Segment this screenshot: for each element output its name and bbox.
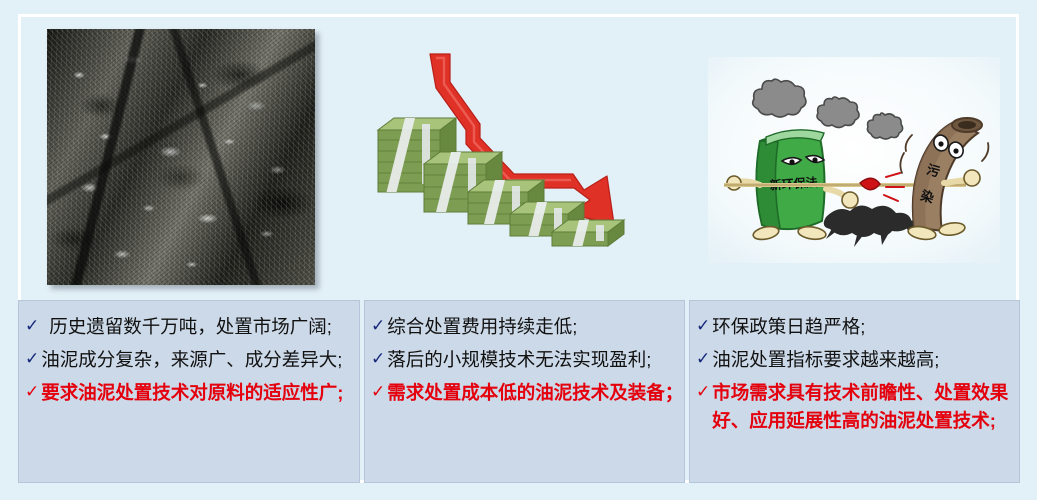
bullet-text: 油泥处置指标要求越来越高;	[712, 346, 1009, 374]
bullet-text: 需求处置成本低的油泥技术及装备；	[387, 379, 683, 407]
bullet-text: 市场需求具有技术前瞻性、处置效果好、应用延展性高的油泥处置技术;	[712, 379, 1009, 435]
bullet-line-emphasis: ✓ 需求处置成本低的油泥技术及装备；	[371, 379, 674, 407]
media-cell-3: 新环保法	[683, 0, 1020, 300]
money-stacks	[378, 118, 624, 246]
text-box-column-2: ✓ 综合处置费用持续走低; ✓ 落后的小规模技术无法实现盈利; ✓ 需求处置成本…	[364, 300, 685, 483]
media-cell-1	[18, 0, 358, 300]
bullet-line: ✓ 油泥处置指标要求越来越高;	[696, 346, 1009, 374]
bullet-line: ✓ 油泥成分复杂，来源广、成分差异大;	[25, 346, 349, 374]
declining-cost-illustration	[368, 38, 668, 270]
bullet-text: 环保政策日趋严格;	[712, 313, 1009, 341]
check-icon: ✓	[25, 379, 39, 405]
bullet-text: 历史遗留数千万吨，处置市场广阔;	[49, 313, 349, 341]
bullet-text: 综合处置费用持续走低;	[387, 313, 674, 341]
check-icon: ✓	[696, 379, 710, 405]
bullet-line-emphasis: ✓ 市场需求具有技术前瞻性、处置效果好、应用延展性高的油泥处置技术;	[696, 379, 1009, 435]
check-icon: ✓	[25, 313, 39, 339]
pollution-cartoon-art: 新环保法	[708, 57, 1000, 263]
oil-sludge-photo	[47, 29, 315, 285]
bullet-line: ✓ 落后的小规模技术无法实现盈利;	[371, 346, 674, 374]
text-box-column-3: ✓ 环保政策日趋严格; ✓ 油泥处置指标要求越来越高; ✓ 市场需求具有技术前瞻…	[689, 300, 1020, 483]
check-icon: ✓	[371, 379, 385, 405]
media-row: 新环保法	[0, 0, 1037, 300]
check-icon: ✓	[696, 313, 710, 339]
bullet-line: ✓ 历史遗留数千万吨，处置市场广阔;	[25, 313, 349, 341]
sludge-cracks	[47, 29, 315, 285]
money-stack-5	[552, 220, 624, 246]
bullet-line-emphasis: ✓ 要求油泥处置技术对原料的适应性广;	[25, 379, 349, 407]
bullet-line: ✓ 环保政策日趋严格;	[696, 313, 1009, 341]
slide-canvas: 新环保法	[0, 0, 1037, 500]
check-icon: ✓	[371, 313, 385, 339]
text-box-column-1: ✓ 历史遗留数千万吨，处置市场广阔; ✓ 油泥成分复杂，来源广、成分差异大; ✓…	[18, 300, 360, 483]
pollution-cartoon: 新环保法	[708, 57, 1000, 263]
check-icon: ✓	[371, 346, 385, 372]
bullet-text: 油泥成分复杂，来源广、成分差异大;	[41, 346, 349, 374]
check-icon: ✓	[696, 346, 710, 372]
bullet-line: ✓ 综合处置费用持续走低;	[371, 313, 674, 341]
media-cell-2	[360, 0, 680, 300]
check-icon: ✓	[25, 346, 39, 372]
bullet-text: 落后的小规模技术无法实现盈利;	[387, 346, 674, 374]
text-row: ✓ 历史遗留数千万吨，处置市场广阔; ✓ 油泥成分复杂，来源广、成分差异大; ✓…	[18, 300, 1020, 483]
bullet-text: 要求油泥处置技术对原料的适应性广;	[41, 379, 349, 407]
